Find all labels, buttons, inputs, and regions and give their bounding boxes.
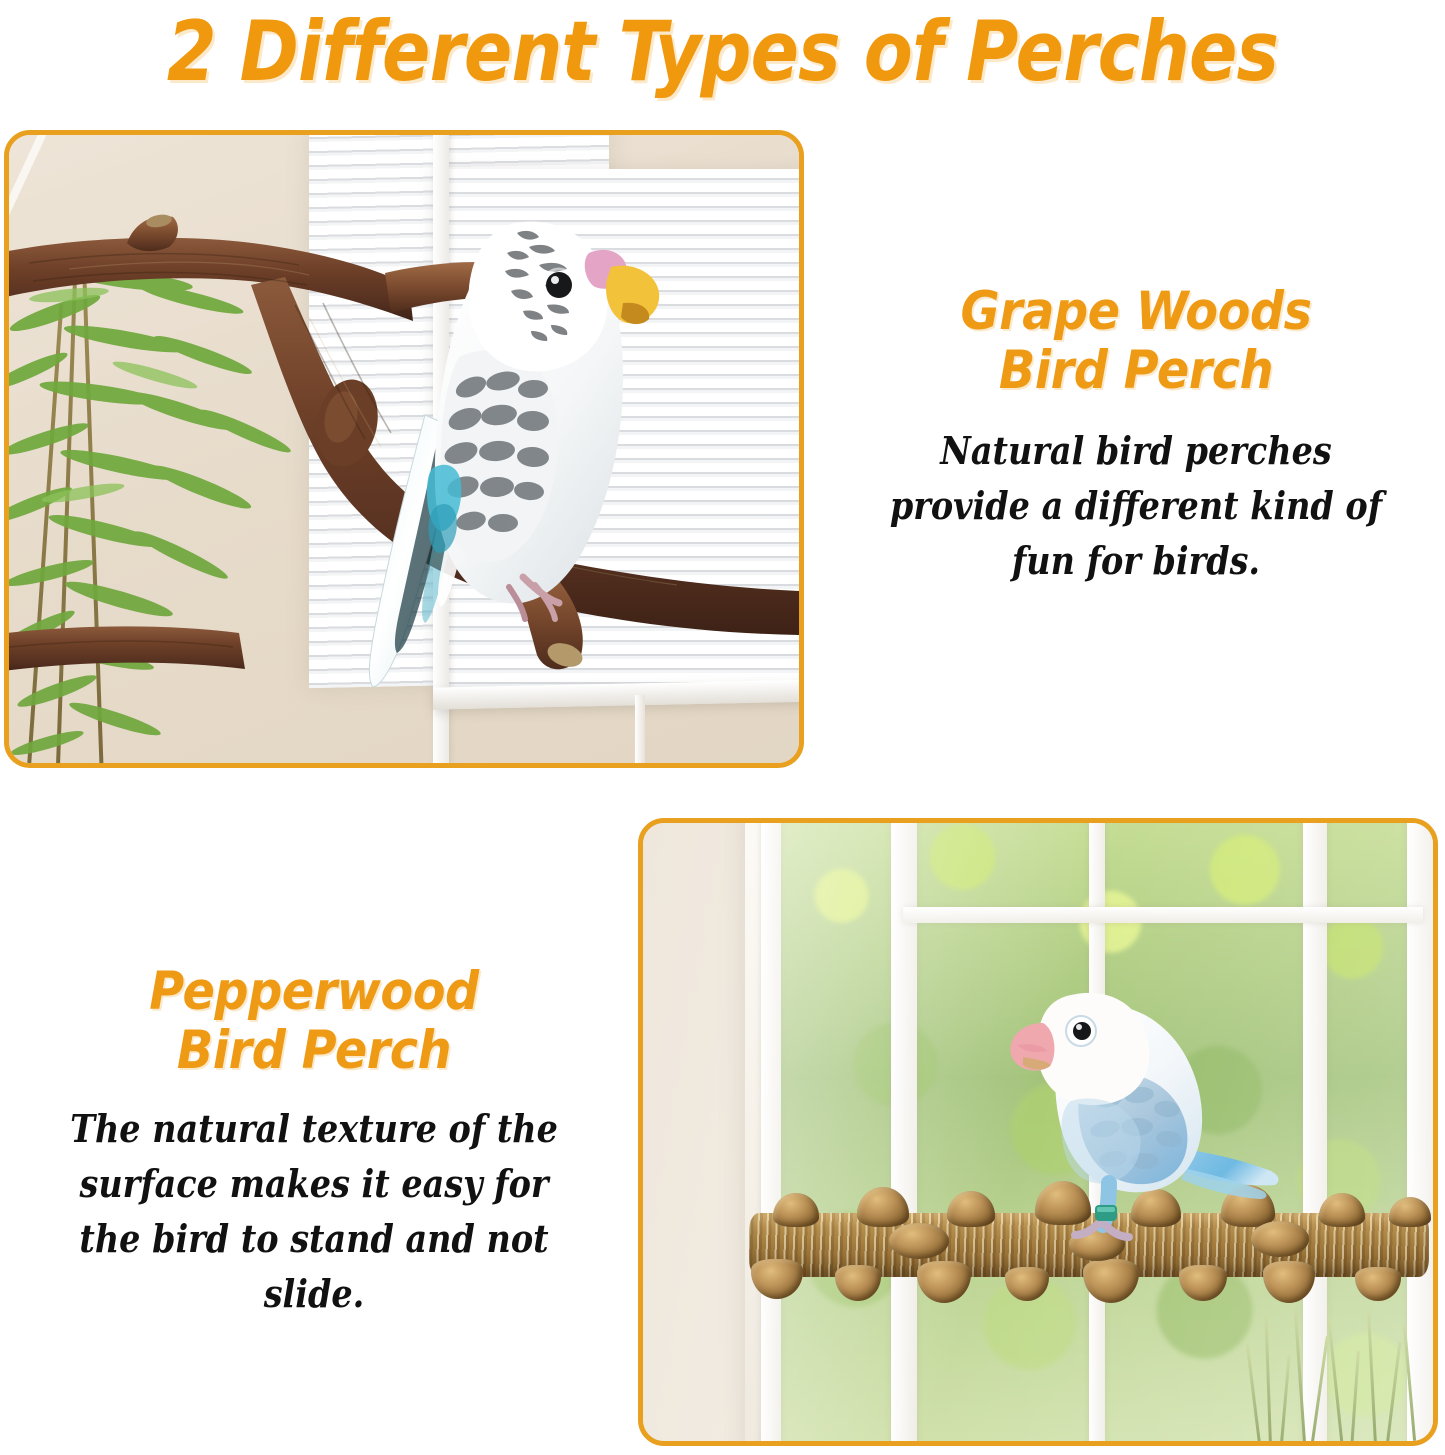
- pepperwood-photo-frame: [638, 818, 1438, 1446]
- budgie-bird: [339, 175, 699, 735]
- pepperwood-heading-line1: Pepperwood: [39, 962, 590, 1021]
- grape-woods-heading: Grape Woods Bird Perch: [866, 282, 1406, 401]
- pepperwood-heading-line2: Bird Perch: [39, 1021, 590, 1080]
- pepperwood-body: The natural texture of the surface makes…: [45, 1101, 584, 1321]
- grape-woods-text-block: Grape Woods Bird Perch Natural bird perc…: [836, 282, 1436, 588]
- grape-woods-photo-frame: [4, 130, 804, 768]
- grape-woods-heading-line2: Bird Perch: [866, 341, 1406, 400]
- grape-woods-heading-line1: Grape Woods: [866, 282, 1406, 341]
- grape-woods-scene: [9, 135, 799, 763]
- pepperwood-text-block: Pepperwood Bird Perch The natural textur…: [8, 962, 620, 1321]
- window-mullion-horizontal: [903, 907, 1423, 923]
- window-mullion-left: [761, 823, 781, 1441]
- page-title: 2 Different Types of Perches: [101, 4, 1344, 99]
- pepperwood-scene: [643, 823, 1433, 1441]
- lovebird-bird: [987, 973, 1287, 1243]
- pepperwood-heading: Pepperwood Bird Perch: [39, 962, 590, 1081]
- grape-woods-body: Natural bird perches provide a different…: [872, 423, 1400, 588]
